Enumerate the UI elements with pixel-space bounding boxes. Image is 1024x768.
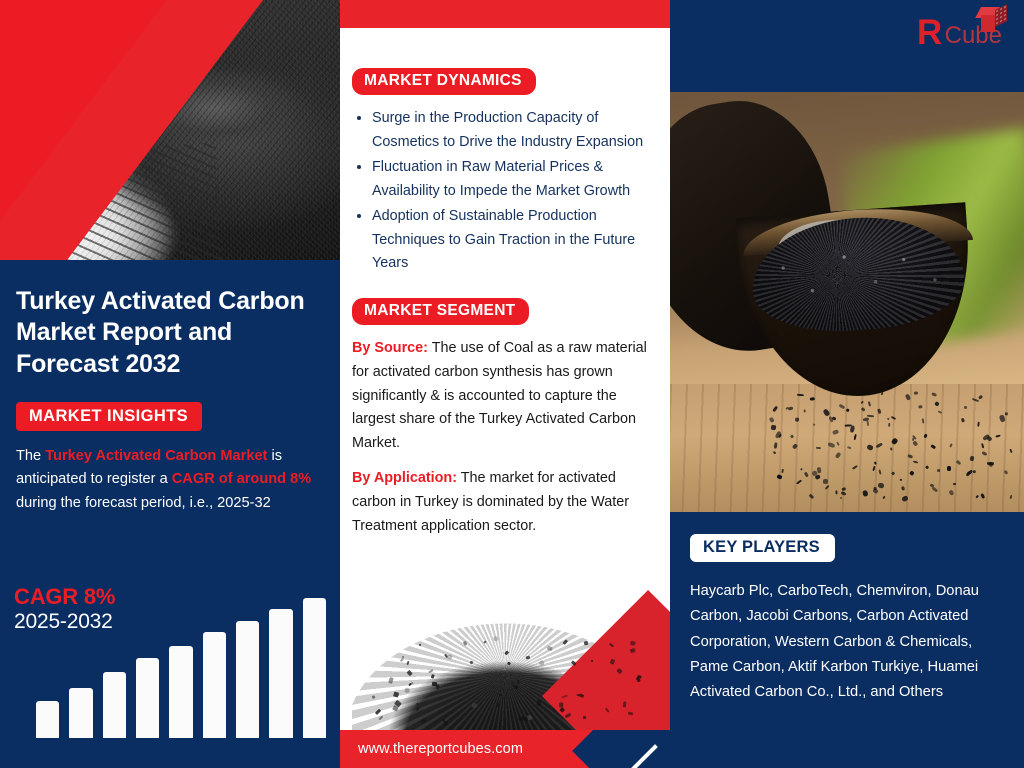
carbon-speck [525, 655, 530, 659]
key-players-block: KEY PLAYERS Haycarb Plc, CarboTech, Chem… [670, 512, 1024, 768]
left-column: Turkey Activated Carbon Market Report an… [0, 0, 340, 768]
carbon-speck [835, 490, 838, 495]
growth-bar-chart: CAGR 8% 2025-2032 [0, 568, 340, 738]
brand-logo[interactable]: Я Cube [917, 10, 1008, 54]
carbon-speck [921, 418, 924, 424]
carbon-speck [840, 497, 842, 499]
insights-highlight-cagr: CAGR of around 8% [172, 471, 311, 487]
right-column: Я Cube KEY PLAYERS Haycarb Plc, CarboTec… [670, 0, 1024, 768]
chart-bar [303, 598, 326, 738]
market-dynamics-item-text: Fluctuation in Raw Material Prices & Ava… [372, 159, 630, 199]
carbon-speck [519, 716, 525, 720]
market-dynamics-item: Adoption of Sustainable Production Techn… [352, 205, 656, 277]
market-segment-heading: MARKET SEGMENT [352, 298, 529, 325]
chart-bar [103, 672, 126, 738]
segment-body: The use of Coal as a raw material for ac… [352, 340, 647, 451]
carbon-speck [977, 421, 980, 426]
chart-bar [36, 701, 59, 739]
insights-highlight-market: Turkey Activated Carbon Market [45, 448, 267, 464]
carbon-speck [804, 409, 806, 412]
carbon-speck [799, 468, 802, 471]
market-dynamics-item: Surge in the Production Capacity of Cosm… [352, 107, 656, 155]
chart-bar [169, 646, 192, 739]
carbon-speck [559, 702, 563, 707]
carbon-speck [987, 462, 994, 465]
carbon-speck [444, 721, 448, 725]
chart-bar [269, 609, 292, 738]
market-segment-paragraph: By Source: The use of Coal as a raw mate… [352, 337, 656, 455]
market-insights-text: The Turkey Activated Carbon Market is an… [16, 445, 318, 516]
cube-face-left [981, 15, 995, 32]
carbon-speck [630, 641, 635, 646]
chart-bar [236, 621, 259, 739]
market-dynamics-heading: MARKET DYNAMICS [352, 68, 536, 95]
center-content: MARKET DYNAMICS Surge in the Production … [340, 28, 670, 538]
center-top-red-bar [340, 0, 670, 28]
insights-lead: The [16, 448, 45, 464]
bullet-icon [357, 214, 361, 218]
market-dynamics-item-text: Surge in the Production Capacity of Cosm… [372, 110, 643, 150]
chart-bar [69, 688, 92, 738]
key-players-text: Haycarb Plc, CarboTech, Chemviron, Donau… [690, 579, 1004, 705]
infographic-page: Turkey Activated Carbon Market Report an… [0, 0, 1024, 768]
key-players-heading: KEY PLAYERS [690, 534, 835, 562]
coconut-shell-carbon-photo [670, 92, 1024, 512]
market-dynamics-item-text: Adoption of Sustainable Production Techn… [372, 208, 635, 272]
carbon-powder-photo [0, 0, 340, 260]
chart-bar [136, 658, 159, 738]
market-segment-block: MARKET SEGMENT By Source: The use of Coa… [352, 298, 656, 538]
carbon-speck [890, 448, 893, 451]
website-url[interactable]: www.thereportcubes.com [358, 741, 523, 757]
activated-carbon-pile-photo [340, 570, 670, 730]
market-dynamics-list: Surge in the Production Capacity of Cosm… [352, 107, 656, 276]
market-segment-paragraph: By Application: The market for activated… [352, 467, 656, 538]
segment-label: By Application: [352, 470, 457, 486]
insights-tail: during the forecast period, i.e., 2025-3… [16, 495, 271, 511]
carbon-speck [918, 405, 922, 408]
bullet-icon [357, 165, 361, 169]
logo-r-mark: Я [917, 15, 942, 50]
market-segment-paragraphs: By Source: The use of Coal as a raw mate… [352, 337, 656, 538]
cube-3d-icon [978, 7, 1008, 37]
footer-bar: www.thereportcubes.com [340, 730, 670, 768]
carbon-speck [964, 406, 967, 409]
segment-label: By Source: [352, 340, 428, 356]
market-dynamics-item: Fluctuation in Raw Material Prices & Ava… [352, 156, 656, 204]
center-column: MARKET DYNAMICS Surge in the Production … [340, 0, 670, 768]
chart-bar [203, 632, 226, 738]
chart-bars [36, 588, 326, 738]
page-title: Turkey Activated Carbon Market Report an… [16, 286, 318, 380]
market-insights-heading: MARKET INSIGHTS [16, 402, 202, 431]
carbon-speck [770, 424, 776, 430]
carbon-speck [1004, 412, 1008, 415]
bullet-icon [357, 116, 361, 120]
carbon-speck [795, 417, 799, 422]
carbon-speck [797, 393, 804, 396]
